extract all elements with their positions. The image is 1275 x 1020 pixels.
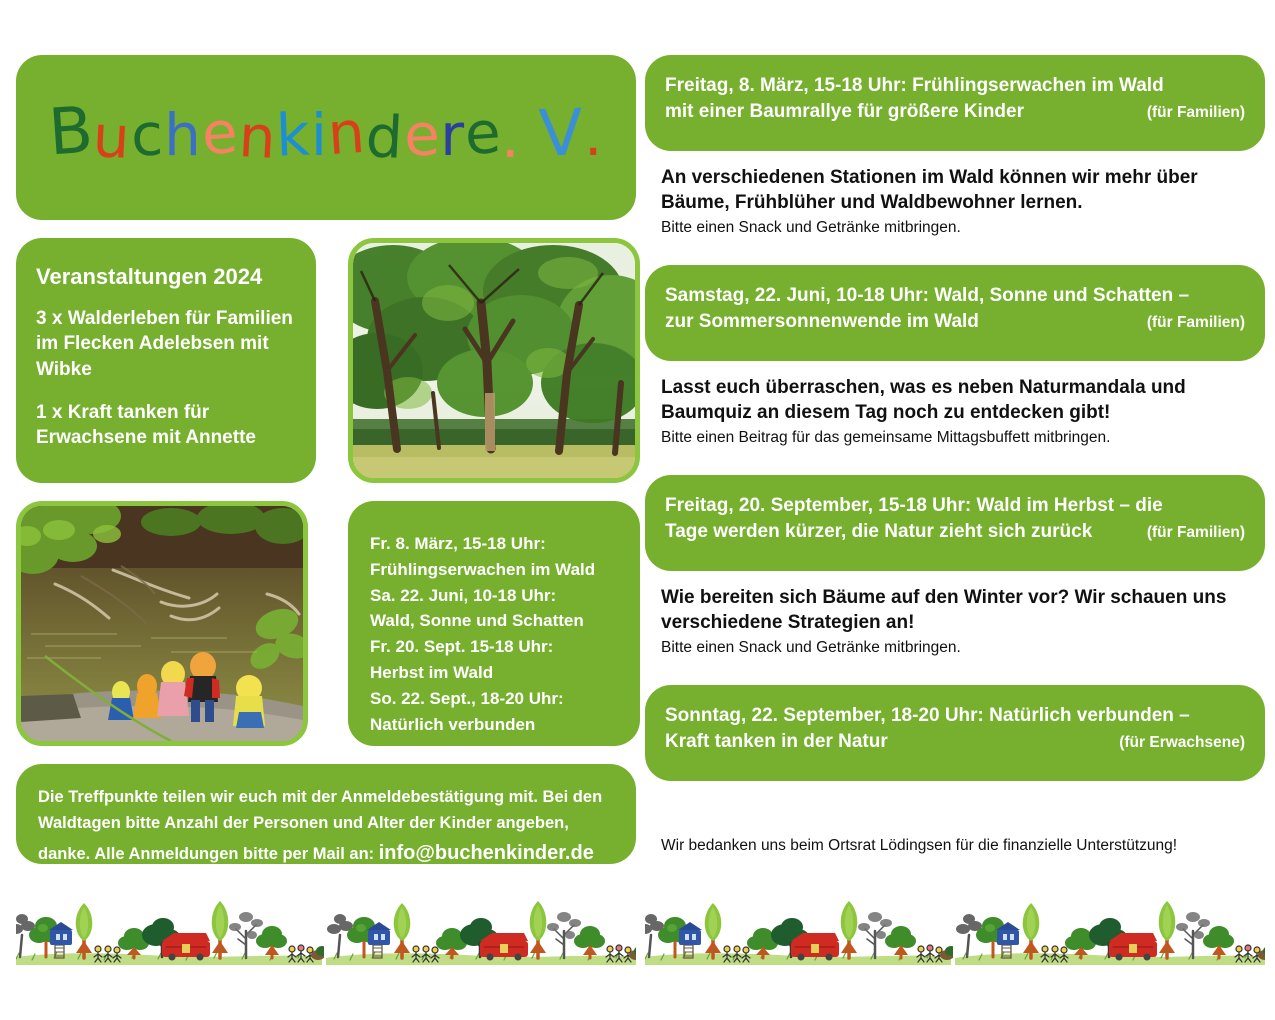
footer-scene-tile — [953, 895, 1265, 967]
event-header-row-2: Kraft tanken in der Natur (für Erwachsen… — [665, 729, 1245, 755]
logo-letter: . — [500, 107, 522, 166]
event-title-line-2: Tage werden kürzer, die Natur zieht sich… — [665, 519, 1092, 545]
logo-letter: u — [92, 107, 133, 167]
schedule-line: Sa. 22. Juni, 10-18 Uhr: — [370, 583, 640, 609]
logo-letter: e — [200, 102, 241, 162]
schedule-line: So. 22. Sept., 18-20 Uhr: — [370, 686, 640, 712]
schedule-line: Wald, Sonne und Schatten — [370, 608, 640, 634]
schedule-panel: Fr. 8. März, 15-18 Uhr: Frühlingserwache… — [348, 501, 640, 746]
stream-and-schedule-row: Fr. 8. März, 15-18 Uhr: Frühlingserwache… — [16, 501, 636, 746]
event-block: Freitag, 8. März, 15-18 Uhr: Frühlingser… — [645, 55, 1265, 239]
schedule-line: Herbst im Wald — [370, 660, 640, 686]
event-title-line-2: mit einer Baumrallye für größere Kinder — [665, 99, 1024, 125]
registration-line-2: Waldtagen bitte Anzahl der Personen und … — [38, 810, 614, 836]
stream-photo — [16, 501, 308, 746]
logo-letter: B — [46, 98, 95, 165]
event-title-line-1: Samstag, 22. Juni, 10-18 Uhr: Wald, Sonn… — [665, 283, 1189, 309]
event-title-line-2: zur Sommersonnenwende im Wald — [665, 309, 979, 335]
event-note: Bitte einen Beitrag für das gemeinsame M… — [645, 425, 1265, 449]
event-header-row-1: Sonntag, 22. September, 18-20 Uhr: Natür… — [665, 703, 1245, 729]
event-audience-badge: (für Familien) — [1133, 522, 1245, 543]
logo-panel: Buchenkindere.V. — [16, 55, 636, 220]
right-column: Freitag, 8. März, 15-18 Uhr: Frühlingser… — [645, 55, 1265, 855]
sponsor-thanks-text: Wir bedanken uns beim Ortsrat Lödingsen … — [645, 837, 1265, 855]
event-description: Wie bereiten sich Bäume auf den Winter v… — [645, 585, 1265, 635]
event-title-line-1: Freitag, 8. März, 15-18 Uhr: Frühlingser… — [665, 73, 1164, 99]
event-audience-badge: (für Erwachsene) — [1105, 732, 1245, 753]
logo-letter: V — [538, 101, 585, 167]
forest-photo — [348, 238, 640, 483]
events-summary-panel: Veranstaltungen 2024 3 x Walderleben für… — [16, 238, 316, 483]
event-audience-badge: (für Familien) — [1133, 312, 1245, 333]
events-and-forest-row: Veranstaltungen 2024 3 x Walderleben für… — [16, 238, 636, 483]
event-description: An verschiedenen Stationen im Wald könne… — [645, 165, 1265, 215]
schedule-line: Fr. 8. März, 15-18 Uhr: — [370, 531, 640, 557]
logo-letter: c — [130, 105, 165, 164]
event-header-panel: Sonntag, 22. September, 18-20 Uhr: Natür… — [645, 685, 1265, 781]
event-header-row-1: Samstag, 22. Juni, 10-18 Uhr: Wald, Sonn… — [665, 283, 1245, 309]
event-description: Lasst euch überraschen, was es neben Nat… — [645, 375, 1265, 425]
footer-scene-tile — [324, 895, 636, 967]
logo-letter: . — [584, 106, 603, 164]
logo-letter: h — [164, 106, 202, 164]
logo-letter: k — [275, 105, 312, 164]
event-header-row-2: mit einer Baumrallye für größere Kinder … — [665, 99, 1245, 125]
registration-line-3: danke. Alle Anmeldungen bitte per Mail a… — [38, 837, 614, 869]
event-note: Bitte einen Snack und Getränke mitbringe… — [645, 215, 1265, 239]
logo-letter: e — [403, 105, 442, 164]
events-paragraph-1: 3 x Walderleben für Familien im Flecken … — [36, 306, 296, 381]
event-header-panel: Samstag, 22. Juni, 10-18 Uhr: Wald, Sonn… — [645, 265, 1265, 361]
event-note: Bitte einen Snack und Getränke mitbringe… — [645, 635, 1265, 659]
event-header-row-2: zur Sommersonnenwende im Wald (für Famil… — [665, 309, 1245, 335]
logo-letter: d — [364, 107, 405, 167]
stream-photo-image — [21, 506, 303, 741]
footer-scene-tile — [16, 895, 324, 967]
schedule-line: Natürlich verbunden — [370, 712, 640, 738]
footer-scene-tile — [645, 895, 953, 967]
event-title-line-2: Kraft tanken in der Natur — [665, 729, 888, 755]
flyer-page: Buchenkindere.V. Veranstaltungen 2024 3 … — [0, 0, 1275, 1020]
event-block: Samstag, 22. Juni, 10-18 Uhr: Wald, Sonn… — [645, 265, 1265, 449]
registration-info-panel: Die Treffpunkte teilen wir euch mit der … — [16, 764, 636, 864]
event-block: Freitag, 20. September, 15-18 Uhr: Wald … — [645, 475, 1265, 659]
event-header-panel: Freitag, 8. März, 15-18 Uhr: Frühlingser… — [645, 55, 1265, 151]
logo-letter: n — [237, 107, 278, 167]
logo-letter: i — [311, 106, 328, 164]
logo-letter: n — [326, 102, 368, 162]
event-header-panel: Freitag, 20. September, 15-18 Uhr: Wald … — [645, 475, 1265, 571]
schedule-line: Frühlingserwachen im Wald — [370, 557, 640, 583]
events-paragraph-2: 1 x Kraft tanken für Erwachsene mit Anne… — [36, 400, 296, 450]
footer-decoration-left — [16, 895, 636, 967]
forest-photo-image — [353, 243, 635, 478]
contact-email-link[interactable]: info@buchenkinder.de — [379, 842, 594, 864]
event-audience-badge: (für Familien) — [1133, 102, 1245, 123]
event-block: Sonntag, 22. September, 18-20 Uhr: Natür… — [645, 685, 1265, 781]
event-title-line-1: Sonntag, 22. September, 18-20 Uhr: Natür… — [665, 703, 1190, 729]
event-header-row-2: Tage werden kürzer, die Natur zieht sich… — [665, 519, 1245, 545]
schedule-line: Fr. 20. Sept. 15-18 Uhr: — [370, 634, 640, 660]
event-title-line-1: Freitag, 20. September, 15-18 Uhr: Wald … — [665, 493, 1163, 519]
registration-line-3-text: danke. Alle Anmeldungen bitte per Mail a… — [38, 845, 374, 863]
logo-letter: e — [463, 102, 504, 162]
event-header-row-1: Freitag, 8. März, 15-18 Uhr: Frühlingser… — [665, 73, 1245, 99]
events-title: Veranstaltungen 2024 — [36, 264, 296, 290]
logo-letter: r — [440, 106, 465, 164]
logo-wordmark: Buchenkindere.V. — [49, 102, 604, 166]
left-column: Buchenkindere.V. Veranstaltungen 2024 3 … — [16, 55, 636, 864]
event-header-row-1: Freitag, 20. September, 15-18 Uhr: Wald … — [665, 493, 1245, 519]
footer-decoration-right — [645, 895, 1265, 967]
registration-line-1: Die Treffpunkte teilen wir euch mit der … — [38, 784, 614, 810]
